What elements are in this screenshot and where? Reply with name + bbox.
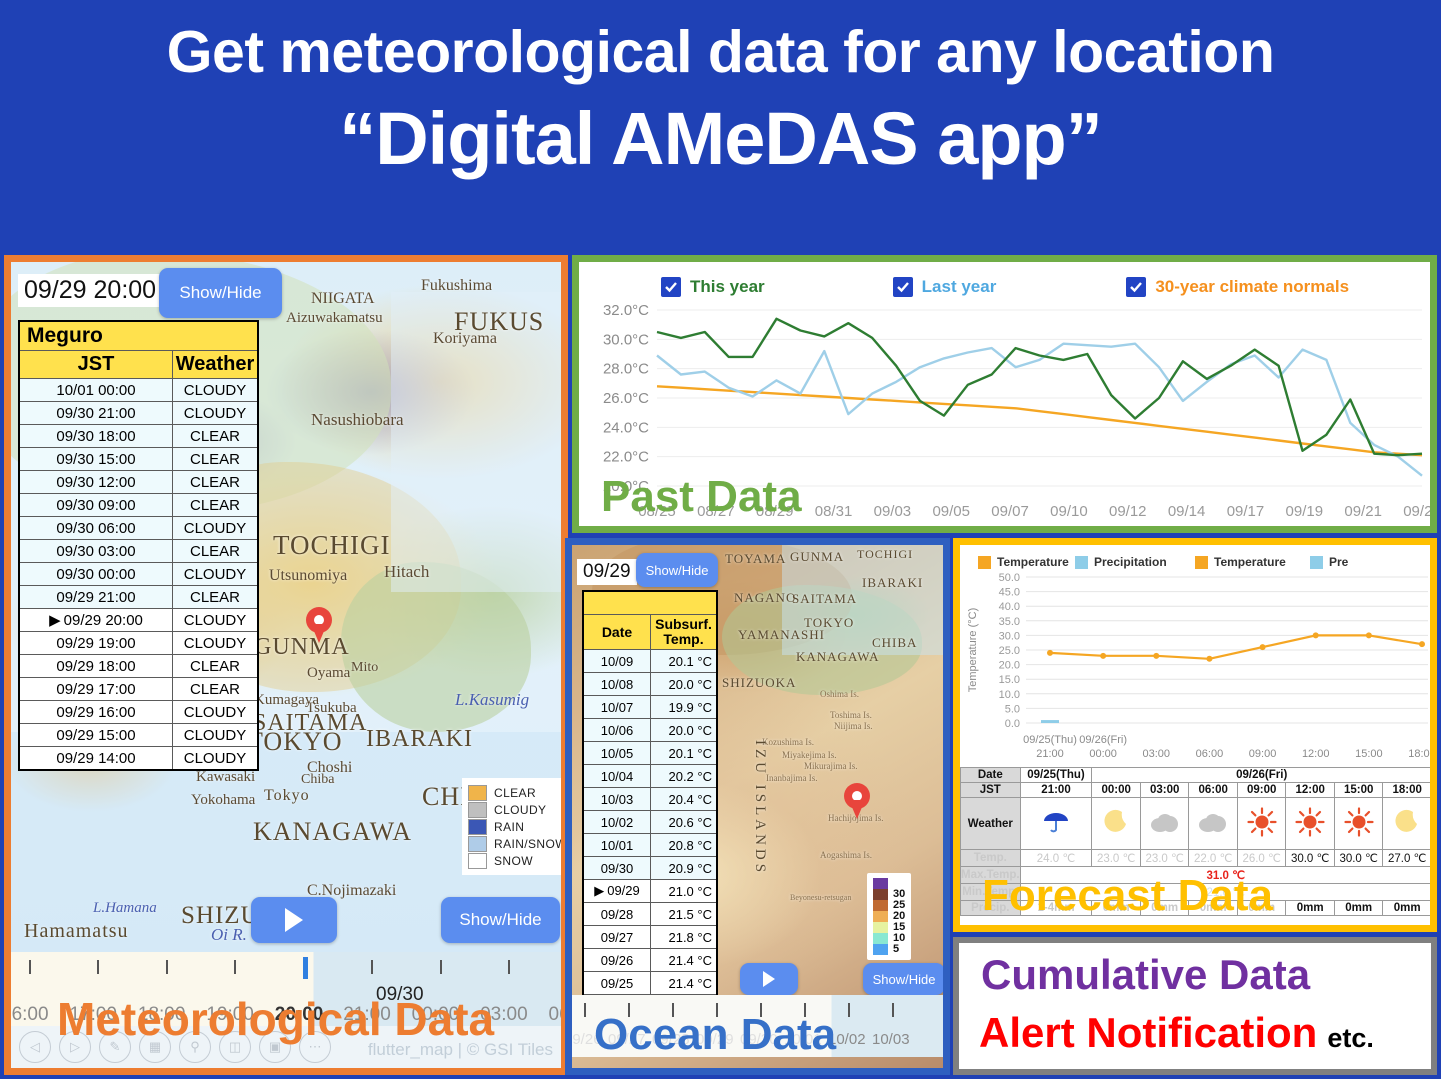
ocean-table-title (583, 591, 717, 615)
meteo-cell-weather: CLOUDY (173, 517, 259, 540)
forecast-temp-cell: 30.0 ℃ (1334, 850, 1383, 867)
ocean-cell-date: 10/05 (583, 742, 651, 765)
ocean-caption: Ocean Data (594, 1010, 836, 1060)
weather-legend-item: RAIN (468, 818, 567, 835)
svg-text:26.0°C: 26.0°C (603, 390, 649, 407)
meteo-data-table[interactable]: Meguro JST Weather 10/01 00:00CLOUDY09/3… (18, 320, 259, 771)
cumulative-line-1: Cumulative Data (981, 951, 1310, 999)
moon-icon (1393, 808, 1421, 836)
past-legend-label-2: 30-year climate normals (1155, 277, 1349, 297)
ocean-cell-date: 09/25 (583, 972, 651, 995)
ocean-cell-temp: 21.8 °C (651, 926, 718, 949)
meteo-cell-weather: CLOUDY (173, 563, 259, 586)
table-row[interactable]: 09/2721.8 °C (583, 926, 717, 949)
table-row[interactable]: ▶09/2921.0 °C (583, 880, 717, 903)
ocean-cell-temp: 21.0 °C (651, 880, 718, 903)
meteo-cell-jst: 10/01 00:00 (19, 379, 173, 402)
table-row[interactable]: 09/29 18:00CLEAR (19, 655, 258, 678)
ocean-table-title-row (583, 591, 717, 615)
ocean-label-inanbajima: Inanbajima Is. (766, 773, 817, 783)
forecast-date-header: 09/26(Fri) (1092, 768, 1432, 783)
ocean-color-legend: 30252015105 (867, 873, 911, 960)
ocean-cell-date: 10/02 (583, 811, 651, 834)
timeline-tick[interactable] (440, 960, 442, 974)
legend-label: Precipitation (1094, 555, 1167, 569)
ocean-cell-temp: 20.4 °C (651, 788, 718, 811)
cloud-icon (1149, 810, 1181, 834)
table-row[interactable]: 09/30 21:00CLOUDY (19, 402, 258, 425)
table-row[interactable]: 10/0420.2 °C (583, 765, 717, 788)
svg-text:28.0°C: 28.0°C (603, 361, 649, 378)
ocean-color-values: 30252015105 (893, 878, 905, 955)
weather-legend-item: RAIN/SNOW (468, 835, 567, 852)
forecast-jst-cell: 03:00 (1140, 783, 1189, 798)
svg-text:09/25(Thu): 09/25(Thu) (1023, 734, 1077, 746)
ocean-col-temp: Subsurf. Temp. (651, 615, 718, 650)
forecast-legend-item[interactable]: Temperature (978, 555, 1069, 569)
ramp-stop (873, 944, 888, 955)
forecast-precip-cell: 0mm (1383, 901, 1432, 916)
ocean-label-toshima: Toshima Is. (830, 710, 872, 720)
table-row[interactable]: 10/0920.1 °C (583, 650, 717, 673)
meteo-cell-weather: CLOUDY (173, 724, 259, 747)
forecast-precip-cell: 0mm (1286, 901, 1335, 916)
sun-icon (1344, 807, 1374, 837)
ocean-label-kozushima: Kozushima Is. (762, 737, 814, 747)
table-row[interactable]: 09/29 19:00CLOUDY (19, 632, 258, 655)
ramp-stop (873, 878, 888, 889)
svg-text:0.0: 0.0 (1005, 718, 1020, 730)
ramp-stop (873, 933, 888, 944)
meteo-cell-jst: 09/30 21:00 (19, 402, 173, 425)
forecast-weather-cell (1334, 798, 1383, 850)
svg-text:09/07: 09/07 (991, 503, 1029, 520)
svg-text:15:00: 15:00 (1355, 748, 1383, 760)
timeline-tick[interactable] (508, 960, 510, 974)
map-label-tsukuba: Tsukuba (306, 700, 357, 717)
forecast-precip-cell: 0mm (1334, 901, 1383, 916)
meteo-cell-weather: CLEAR (173, 586, 259, 609)
table-row[interactable]: 10/0320.4 °C (583, 788, 717, 811)
timeline-tick[interactable] (848, 1003, 850, 1017)
svg-text:09/21: 09/21 (1344, 503, 1382, 520)
legend-swatch (1075, 556, 1088, 569)
ramp-stop (873, 900, 888, 911)
past-data-panel[interactable]: This year Last year 30-year climate norm… (572, 255, 1437, 533)
table-row[interactable]: 09/2521.4 °C (583, 972, 717, 995)
table-row[interactable]: 10/01 00:00CLOUDY (19, 379, 258, 402)
cloud-icon (1197, 810, 1229, 834)
weather-legend: CLEARCLOUDYRAINRAIN/SNOWSNOW (462, 778, 568, 875)
timeline-label: 10/03 (872, 1031, 910, 1048)
ocean-cell-date: 10/06 (583, 719, 651, 742)
forecast-jst-cell: 12:00 (1286, 783, 1335, 798)
ocean-cell-temp: 20.9 °C (651, 857, 718, 880)
svg-text:32.0°C: 32.0°C (603, 304, 649, 319)
ocean-cell-date: 10/01 (583, 834, 651, 857)
timeline-tick[interactable] (371, 960, 373, 974)
svg-text:45.0: 45.0 (999, 587, 1020, 599)
ocean-cell-date: 10/09 (583, 650, 651, 673)
ocean-color-ramp (873, 878, 888, 955)
table-row[interactable]: 09/29 15:00CLOUDY (19, 724, 258, 747)
svg-text:09/17: 09/17 (1227, 503, 1265, 520)
meteo-col-jst: JST (19, 351, 173, 379)
ocean-table-header-row: Date Subsurf. Temp. (583, 615, 717, 650)
past-legend-label-1: Last year (922, 277, 997, 297)
forecast-temp-cell: 22.0 ℃ (1189, 850, 1238, 867)
meteo-cell-jst: 09/29 17:00 (19, 678, 173, 701)
svg-text:22.0°C: 22.0°C (603, 449, 649, 466)
timeline-tick[interactable] (166, 960, 168, 974)
meteo-cell-jst: 09/29 21:00 (19, 586, 173, 609)
legend-label: CLEAR (494, 786, 536, 800)
table-row[interactable]: 09/2821.5 °C (583, 903, 717, 926)
table-row[interactable]: 09/29 21:00CLEAR (19, 586, 258, 609)
meteo-cell-weather: CLEAR (173, 678, 259, 701)
svg-text:08/31: 08/31 (815, 503, 853, 520)
header-line-1: Get meteorological data for any location (167, 18, 1275, 86)
svg-text:30.0°C: 30.0°C (603, 331, 649, 348)
svg-text:24.0°C: 24.0°C (603, 419, 649, 436)
svg-text:10.0: 10.0 (999, 689, 1020, 701)
table-row[interactable]: 09/30 18:00CLEAR (19, 425, 258, 448)
forecast-row-label: Date (961, 768, 1021, 783)
meteo-cell-jst: 09/30 18:00 (19, 425, 173, 448)
meteo-show-hide-button-2[interactable]: Show/Hide (441, 897, 560, 943)
timeline-tick[interactable] (234, 960, 236, 974)
back-icon[interactable]: ◁ (19, 1031, 51, 1063)
meteo-table-title: Meguro (19, 321, 258, 351)
ocean-cell-date: 09/26 (583, 949, 651, 972)
forecast-temp-cell: 26.0 ℃ (1237, 850, 1286, 867)
checkbox-checked-icon[interactable] (893, 277, 913, 297)
ocean-label-izu-islands: IZU ISLANDS (751, 740, 768, 876)
forecast-data-panel[interactable]: TemperaturePrecipitationTemperaturePre 5… (953, 538, 1437, 932)
table-row[interactable]: 09/2621.4 °C (583, 949, 717, 972)
forecast-temp-cell: 23.0 ℃ (1140, 850, 1189, 867)
past-legend-label-0: This year (690, 277, 765, 297)
ocean-cell-temp: 20.1 °C (651, 742, 718, 765)
table-row[interactable]: 09/30 06:00CLOUDY (19, 517, 258, 540)
svg-text:09/19: 09/19 (1286, 503, 1324, 520)
ocean-show-hide-button-2[interactable]: Show/Hide (863, 963, 945, 995)
weather-legend-item: SNOW (468, 852, 567, 869)
past-legend-normals[interactable]: 30-year climate normals (1126, 277, 1349, 297)
ramp-stop (873, 911, 888, 922)
ocean-col-date: Date (583, 615, 651, 650)
svg-text:12:00: 12:00 (1302, 748, 1330, 760)
poster-header: Get meteorological data for any location… (0, 0, 1441, 250)
meteo-cell-weather: CLOUDY (173, 609, 259, 632)
ocean-cell-temp: 19.9 °C (651, 696, 718, 719)
timeline-tick[interactable] (584, 1003, 586, 1017)
meteo-cell-jst: ▶09/29 20:00 (19, 609, 173, 632)
table-row: Temp.24.0 ℃23.0 ℃23.0 ℃22.0 ℃26.0 ℃30.0 … (961, 850, 1432, 867)
forecast-temp-cell: 24.0 ℃ (1020, 850, 1092, 867)
ramp-stop (873, 889, 888, 900)
ocean-cell-date: 10/07 (583, 696, 651, 719)
meteo-show-hide-button[interactable]: Show/Hide (159, 268, 282, 318)
forecast-weather-cell (1140, 798, 1189, 850)
meteo-cell-weather: CLEAR (173, 540, 259, 563)
current-row-arrow-icon: ▶ (49, 611, 61, 629)
meteo-cell-weather: CLEAR (173, 655, 259, 678)
meteo-cell-jst: 09/30 06:00 (19, 517, 173, 540)
meteo-play-button[interactable] (251, 897, 337, 943)
ocean-cell-temp: 21.5 °C (651, 903, 718, 926)
meteo-cell-jst: 09/29 15:00 (19, 724, 173, 747)
meteo-cell-jst: 09/30 15:00 (19, 448, 173, 471)
forecast-jst-cell: 18:00 (1383, 783, 1432, 798)
forecast-row-label: Weather (961, 798, 1021, 850)
ocean-location-pin[interactable] (844, 783, 870, 819)
moon-icon (1102, 808, 1130, 836)
forecast-legend-item[interactable]: Pre (1310, 555, 1348, 569)
table-row[interactable]: 10/0620.0 °C (583, 719, 717, 742)
meteo-cell-jst: 09/29 18:00 (19, 655, 173, 678)
table-row[interactable]: 09/3020.9 °C (583, 857, 717, 880)
forecast-row-label: Temp. (961, 850, 1021, 867)
ocean-cell-temp: 20.6 °C (651, 811, 718, 834)
meteo-cell-jst: 09/30 12:00 (19, 471, 173, 494)
umbrella-icon (1041, 807, 1071, 837)
meteo-cell-weather: CLEAR (173, 425, 259, 448)
legend-swatch (468, 819, 487, 835)
meteo-cell-jst: 09/29 19:00 (19, 632, 173, 655)
svg-text:18:00: 18:00 (1408, 748, 1432, 760)
ocean-label-aogashima: Aogashima Is. (820, 850, 872, 860)
svg-text:06:00: 06:00 (1196, 748, 1224, 760)
svg-text:09/14: 09/14 (1168, 503, 1206, 520)
forecast-temp-cell: 30.0 ℃ (1286, 850, 1335, 867)
ocean-label-niijima: Niijima Is. (834, 721, 873, 731)
meteo-cell-weather: CLOUDY (173, 402, 259, 425)
weather-legend-item: CLEAR (468, 784, 567, 801)
svg-text:Temperature (°C): Temperature (°C) (967, 608, 979, 692)
play-icon (763, 971, 775, 987)
forecast-weather-cell (1237, 798, 1286, 850)
table-row[interactable]: 10/0719.9 °C (583, 696, 717, 719)
ocean-cell-date: 09/28 (583, 903, 651, 926)
timeline-tick[interactable] (29, 960, 31, 974)
table-row[interactable]: 09/30 03:00CLEAR (19, 540, 258, 563)
timeline-tick[interactable] (303, 957, 308, 979)
legend-label: Pre (1329, 555, 1348, 569)
forecast-jst-cell: 21:00 (1020, 783, 1092, 798)
header-line-2: “Digital AMeDAS app” (339, 96, 1102, 181)
svg-text:40.0: 40.0 (999, 601, 1020, 613)
svg-text:20.0: 20.0 (999, 660, 1020, 672)
forecast-weather-cell (1092, 798, 1141, 850)
legend-label: Temperature (1214, 555, 1286, 569)
ocean-cell-temp: 20.0 °C (651, 673, 718, 696)
table-row[interactable]: 09/29 14:00CLOUDY (19, 747, 258, 771)
legend-swatch (978, 556, 991, 569)
svg-text:09/24: 09/24 (1403, 503, 1430, 520)
legend-label: RAIN/SNOW (494, 837, 567, 851)
ocean-cell-temp: 20.0 °C (651, 719, 718, 742)
forecast-legend-item[interactable]: Temperature (1195, 555, 1286, 569)
ocean-show-hide-button[interactable]: Show/Hide (636, 553, 718, 587)
meteo-cell-jst: 09/29 16:00 (19, 701, 173, 724)
forecast-chart[interactable]: 50.045.040.035.030.025.020.015.010.05.00… (960, 569, 1432, 765)
ocean-data-panel[interactable]: TOYAMA GUNMA TOCHIGI NAGANO SAITAMA IBAR… (565, 538, 950, 1075)
weather-legend-item: CLOUDY (468, 801, 567, 818)
timeline-label: 16:00 (4, 1004, 49, 1026)
ocean-data-table[interactable]: Date Subsurf. Temp. 10/0920.1 °C10/0820.… (582, 590, 718, 1042)
forecast-weather-cell (1383, 798, 1432, 850)
past-legend[interactable]: This year Last year 30-year climate norm… (579, 270, 1430, 304)
ramp-stop (873, 922, 888, 933)
meteo-cell-weather: CLOUDY (173, 632, 259, 655)
cumulative-line-2-suffix: etc. (1327, 1023, 1374, 1054)
meteo-table-header-row: JST Weather (19, 351, 258, 379)
ocean-cell-date: 10/03 (583, 788, 651, 811)
past-legend-last-year[interactable]: Last year (893, 277, 997, 297)
table-row[interactable]: 10/0120.8 °C (583, 834, 717, 857)
ramp-value: 5 (893, 944, 905, 955)
cumulative-data-panel: Cumulative Data Alert Notification etc. (953, 937, 1437, 1075)
svg-text:30.0: 30.0 (999, 630, 1020, 642)
legend-label: SNOW (494, 854, 533, 868)
meteo-cell-jst: 09/29 14:00 (19, 747, 173, 771)
svg-text:00:00: 00:00 (1089, 748, 1117, 760)
legend-swatch (468, 802, 487, 818)
sun-icon (1247, 807, 1277, 837)
table-row[interactable]: 09/30 09:00CLEAR (19, 494, 258, 517)
meteo-col-weather: Weather (173, 351, 259, 379)
cumulative-line-2: Alert Notification (979, 1009, 1317, 1057)
ocean-cell-date: 10/04 (583, 765, 651, 788)
ocean-label-miyakejima: Miyakejima Is. (782, 750, 837, 760)
meteo-cell-weather: CLOUDY (173, 701, 259, 724)
legend-swatch (1195, 556, 1208, 569)
meteo-caption: Meteorological Data (57, 992, 494, 1046)
meteo-cell-weather: CLEAR (173, 448, 259, 471)
ocean-cell-temp: 20.2 °C (651, 765, 718, 788)
table-row: JST21:0000:0003:0006:0009:0012:0015:0018… (961, 783, 1432, 798)
meteo-cell-weather: CLOUDY (173, 747, 259, 771)
checkbox-checked-icon[interactable] (661, 277, 681, 297)
forecast-caption: Forecast Data (982, 871, 1273, 921)
table-row[interactable]: ▶09/29 20:00CLOUDY (19, 609, 258, 632)
ocean-cell-temp: 20.1 °C (651, 650, 718, 673)
forecast-temp-cell: 23.0 ℃ (1092, 850, 1141, 867)
table-row[interactable]: 09/30 12:00CLEAR (19, 471, 258, 494)
svg-text:09/05: 09/05 (932, 503, 970, 520)
forecast-jst-cell: 09:00 (1237, 783, 1286, 798)
legend-swatch (468, 853, 487, 869)
forecast-jst-cell: 06:00 (1189, 783, 1238, 798)
meteo-current-time: 09/29 20:00 (18, 274, 162, 307)
svg-text:09/26(Fri): 09/26(Fri) (1079, 734, 1127, 746)
location-pin[interactable] (306, 607, 332, 643)
svg-text:03:00: 03:00 (1143, 748, 1171, 760)
ocean-cell-temp: 21.4 °C (651, 972, 718, 995)
forecast-temp-cell: 27.0 ℃ (1383, 850, 1432, 867)
svg-text:09/12: 09/12 (1109, 503, 1147, 520)
ocean-label-mikurajima: Mikurajima Is. (804, 761, 858, 771)
table-row[interactable]: 10/0820.0 °C (583, 673, 717, 696)
poster-root: Get meteorological data for any location… (0, 0, 1441, 1079)
meteo-table-title-row: Meguro (19, 321, 258, 351)
svg-text:50.0: 50.0 (999, 572, 1020, 584)
ocean-label-beyonesu: Beyonesu-retsugan (790, 893, 851, 902)
forecast-weather-cell (1189, 798, 1238, 850)
legend-label: RAIN (494, 820, 524, 834)
svg-text:25.0: 25.0 (999, 645, 1020, 657)
meteorological-data-panel[interactable]: TOCHIGI TOKYO KANAGAWA CHIBA Tokyo SHIZU… (4, 255, 568, 1075)
ocean-cell-date: 10/08 (583, 673, 651, 696)
current-row-arrow-icon: ▶ (594, 883, 604, 899)
forecast-weather-cell (1020, 798, 1092, 850)
past-legend-this-year[interactable]: This year (661, 277, 765, 297)
meteo-cell-jst: 09/30 09:00 (19, 494, 173, 517)
meteo-cell-weather: CLEAR (173, 471, 259, 494)
svg-text:5.0: 5.0 (1005, 703, 1020, 715)
ocean-cell-date: 09/30 (583, 857, 651, 880)
ocean-cell-date: 09/27 (583, 926, 651, 949)
table-row[interactable]: 09/29 16:00CLOUDY (19, 701, 258, 724)
past-caption: Past Data (601, 472, 802, 522)
meteo-cell-jst: 09/30 03:00 (19, 540, 173, 563)
forecast-row-label: JST (961, 783, 1021, 798)
svg-text:15.0: 15.0 (999, 674, 1020, 686)
forecast-legend-item[interactable]: Precipitation (1075, 555, 1167, 569)
svg-text:09:00: 09:00 (1249, 748, 1277, 760)
table-row[interactable]: 09/30 00:00CLOUDY (19, 563, 258, 586)
sun-icon (1295, 807, 1325, 837)
forecast-jst-cell: 15:00 (1334, 783, 1383, 798)
forecast-jst-cell: 00:00 (1092, 783, 1141, 798)
map-label-kumagaya: Kumagaya (254, 692, 319, 709)
svg-text:09/10: 09/10 (1050, 503, 1088, 520)
legend-swatch (468, 785, 487, 801)
table-row[interactable]: 10/0220.6 °C (583, 811, 717, 834)
meteo-cell-jst: 09/30 00:00 (19, 563, 173, 586)
legend-swatch (1310, 556, 1323, 569)
meteo-cell-weather: CLOUDY (173, 379, 259, 402)
ocean-cell-temp: 20.8 °C (651, 834, 718, 857)
legend-label: Temperature (997, 555, 1069, 569)
legend-label: CLOUDY (494, 803, 546, 817)
forecast-chart-svg: 50.045.040.035.030.025.020.015.010.05.00… (960, 569, 1432, 765)
legend-swatch (468, 836, 487, 852)
checkbox-checked-icon[interactable] (1126, 277, 1146, 297)
timeline-tick[interactable] (892, 1003, 894, 1017)
timeline-tick[interactable] (97, 960, 99, 974)
svg-text:09/03: 09/03 (874, 503, 912, 520)
table-row[interactable]: 09/29 17:00CLEAR (19, 678, 258, 701)
ocean-cell-date: ▶09/29 (583, 880, 651, 903)
play-icon (285, 908, 303, 932)
alert-row: Alert Notification etc. (979, 1009, 1374, 1057)
table-row: Date09/25(Thu)09/26(Fri) (961, 768, 1432, 783)
table-row[interactable]: 09/30 15:00CLEAR (19, 448, 258, 471)
ocean-current-date: 09/29 (577, 559, 637, 585)
table-row: Weather (961, 798, 1432, 850)
table-row[interactable]: 10/0520.1 °C (583, 742, 717, 765)
forecast-weather-cell (1286, 798, 1335, 850)
forecast-date-header: 09/25(Thu) (1020, 768, 1092, 783)
ocean-play-button[interactable] (740, 963, 798, 995)
ocean-cell-temp: 21.4 °C (651, 949, 718, 972)
svg-text:35.0: 35.0 (999, 616, 1020, 628)
meteo-cell-weather: CLEAR (173, 494, 259, 517)
svg-text:21:00: 21:00 (1036, 748, 1064, 760)
